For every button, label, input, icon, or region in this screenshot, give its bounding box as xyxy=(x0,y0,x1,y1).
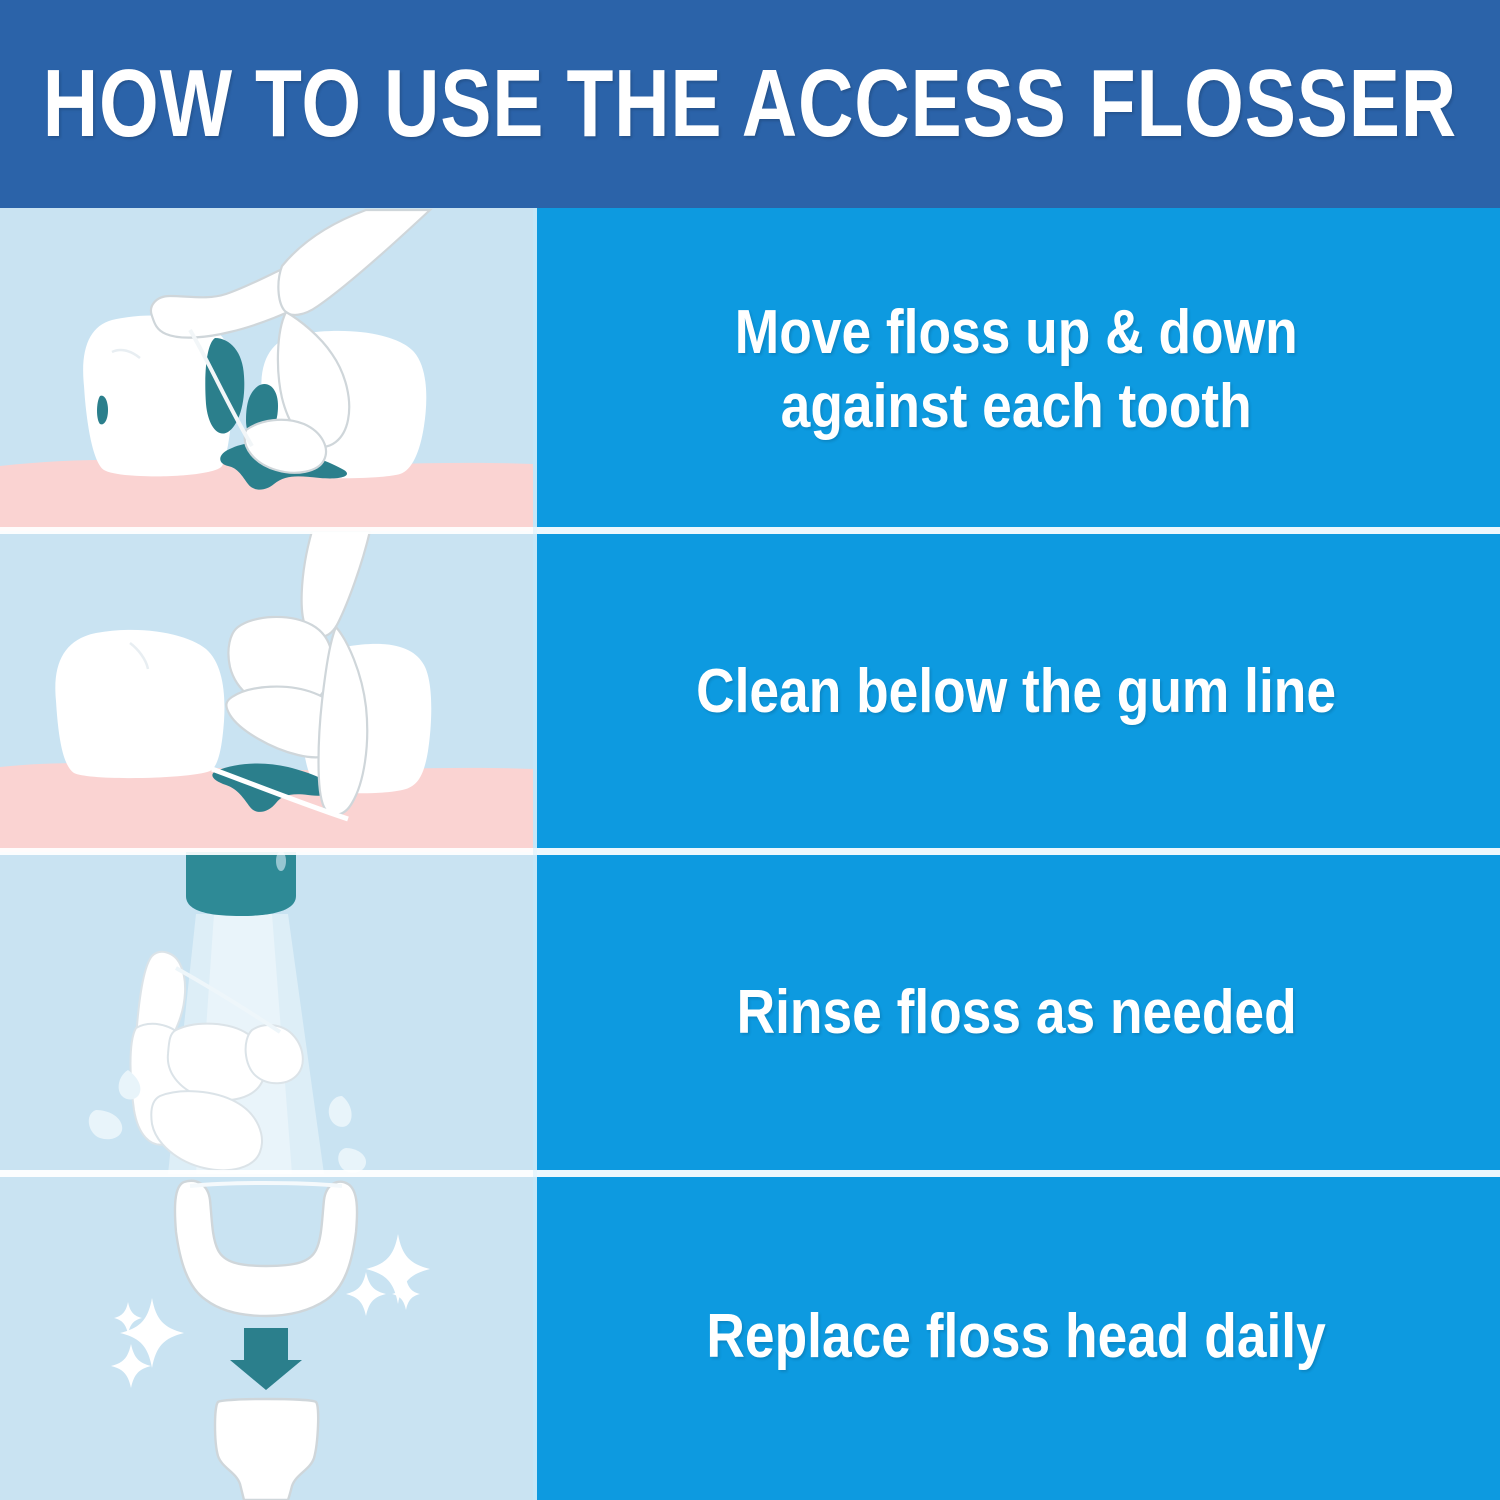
step-row-2: Clean below the gum line xyxy=(0,531,1500,852)
step-3-illustration xyxy=(0,852,533,1174)
step-4-text-cell: Replace floss head daily xyxy=(533,1174,1500,1500)
step-row-1: Move floss up & down against each tooth xyxy=(0,208,1500,531)
step-row-3: Rinse floss as needed xyxy=(0,852,1500,1174)
replace-floss-head-icon xyxy=(0,1174,533,1500)
page-title: HOW TO USE THE ACCESS FLOSSER xyxy=(43,56,1457,152)
step-row-4: Replace floss head daily xyxy=(0,1174,1500,1500)
step-1-line-1: Move floss up & down xyxy=(735,298,1298,367)
step-4-label: Replace floss head daily xyxy=(672,1300,1360,1373)
header-band: HOW TO USE THE ACCESS FLOSSER xyxy=(0,0,1500,208)
step-3-text-cell: Rinse floss as needed xyxy=(533,852,1500,1174)
step-1-label: Move floss up & down against each tooth xyxy=(701,296,1333,442)
flosser-gum-line-icon xyxy=(0,531,533,852)
step-2-text-cell: Clean below the gum line xyxy=(533,531,1500,852)
step-2-label: Clean below the gum line xyxy=(662,655,1371,728)
step-4-illustration xyxy=(0,1174,533,1500)
teeth-plaque-flosser-icon xyxy=(0,208,533,531)
step-1-text-cell: Move floss up & down against each tooth xyxy=(533,208,1500,531)
step-1-illustration xyxy=(0,208,533,531)
infographic-poster: HOW TO USE THE ACCESS FLOSSER xyxy=(0,0,1500,1500)
step-2-illustration xyxy=(0,531,533,852)
step-3-label: Rinse floss as needed xyxy=(702,976,1331,1049)
step-1-line-2: against each tooth xyxy=(781,372,1252,441)
faucet-rinse-icon xyxy=(0,852,533,1174)
